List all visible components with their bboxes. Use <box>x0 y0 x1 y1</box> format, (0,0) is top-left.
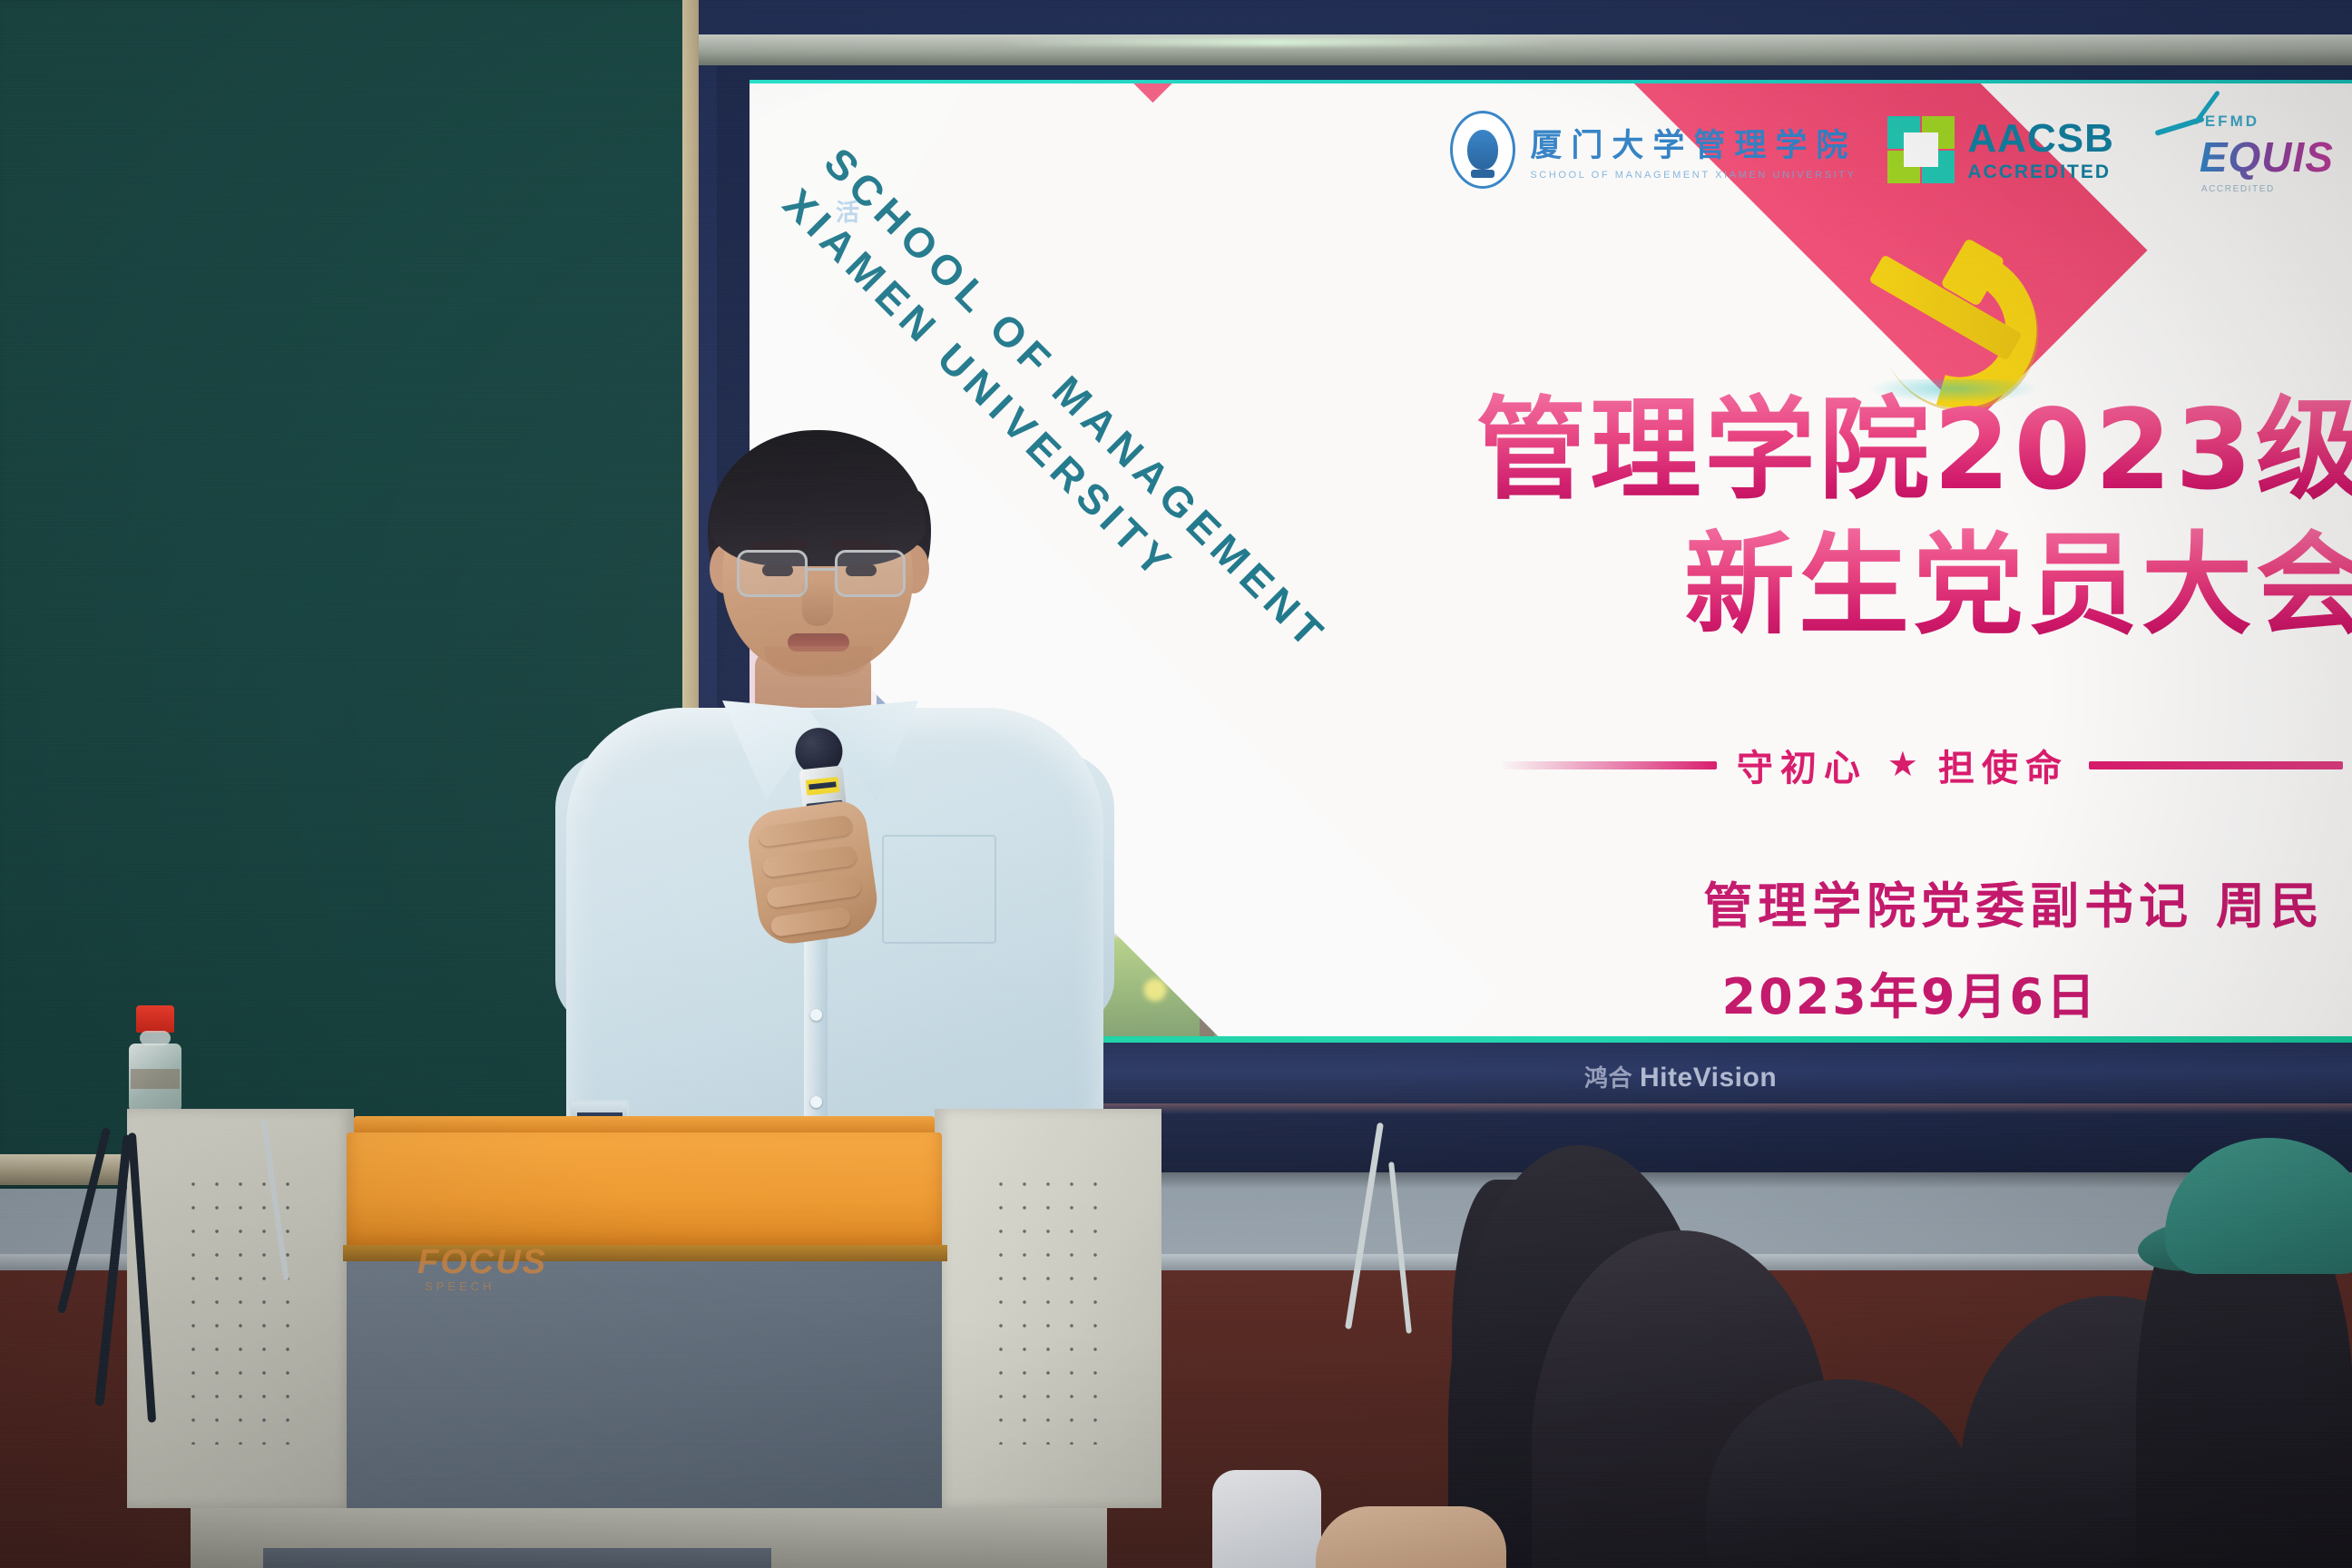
xiamen-university-logo: 厦门大学管理学院 SCHOOL OF MANAGEMENT XIAMEN UNI… <box>1450 111 1857 189</box>
divider-rule-left <box>1499 761 1717 769</box>
slide-watermark: 活 <box>836 194 857 228</box>
aacsb-mark-icon <box>1887 116 1955 183</box>
aacsb-logo: AACSB ACCREDITED <box>1887 116 2113 183</box>
motto-left: 守初心 <box>1737 739 1867 791</box>
motto-divider: 守初心 ★ 担使命 <box>1499 739 2343 791</box>
display-brand-en: HiteVision <box>1640 1063 1777 1093</box>
aacsb-sub: ACCREDITED <box>1967 162 2113 181</box>
lectern-desk <box>347 1132 942 1250</box>
xmu-name: 厦门大学管理学院 SCHOOL OF MANAGEMENT XIAMEN UNI… <box>1530 120 1857 181</box>
speaker-grille-left <box>181 1172 299 1445</box>
xmu-seal-icon <box>1450 111 1515 189</box>
lectern-front <box>347 1261 942 1508</box>
title-line-2: 新生党员大会 <box>1475 518 2352 653</box>
photograph: SCHOOL OF MANAGEMENT XIAMEN UNIVERSITY 活… <box>0 0 2352 1568</box>
xmu-name-en: SCHOOL OF MANAGEMENT XIAMEN UNIVERSITY <box>1530 170 1857 181</box>
lectern: FOCUS SPEECH <box>136 1096 1316 1568</box>
shirt-pocket <box>882 835 996 944</box>
slide-speaker: 管理学院党委副书记 周民 <box>1703 866 2325 937</box>
logo-strip: 厦门大学管理学院 SCHOOL OF MANAGEMENT XIAMEN UNI… <box>1450 105 2334 194</box>
equis-word: EQUIS <box>2200 132 2334 181</box>
speaker-person <box>544 408 1125 1161</box>
shirt-button <box>810 1009 822 1021</box>
speaker-grille-right <box>989 1172 1107 1445</box>
motto-right: 担使命 <box>1938 739 2069 791</box>
xmu-name-cn: 厦门大学管理学院 <box>1530 120 1857 166</box>
bottle-cap <box>136 1005 174 1033</box>
lectern-top-edge <box>354 1116 935 1134</box>
glasses-bridge <box>808 568 835 571</box>
egret-icon <box>1467 130 1498 170</box>
lectern-brand-sub: SPEECH <box>425 1279 495 1293</box>
lectern-brand: FOCUS <box>417 1243 547 1282</box>
lectern-panel-right <box>935 1109 1161 1508</box>
title-line-1: 管理学院2023级 <box>1475 383 2352 518</box>
divider-rule-right <box>2089 761 2343 769</box>
chin <box>764 646 873 677</box>
display-brand-cn: 鸿合 <box>1584 1064 1632 1092</box>
lens-left <box>737 550 808 597</box>
lectern-plinth <box>263 1548 771 1568</box>
slide-date: 2023年9月6日 <box>1722 956 2098 1028</box>
display-top-rail <box>699 34 2352 65</box>
nose <box>802 581 833 626</box>
aacsb-word: AACSB <box>1967 119 2113 159</box>
hand-holding-microphone <box>744 799 881 948</box>
lectern-panel-left <box>127 1109 354 1508</box>
lens-right <box>835 550 906 597</box>
audience-shoulder <box>1316 1506 1506 1568</box>
efmd-swoosh-icon <box>2154 105 2241 136</box>
star-icon: ★ <box>1887 748 1918 782</box>
audience-paper <box>1212 1470 1321 1568</box>
slide-title: 管理学院2023级 新生党员大会 <box>1475 383 2352 653</box>
equis-sub: ACCREDITED <box>2201 184 2275 194</box>
display-brand: 鸿合HiteVision <box>1584 1060 1777 1093</box>
aacsb-text: AACSB ACCREDITED <box>1967 119 2113 181</box>
bottle-label <box>131 1069 180 1089</box>
hair <box>710 430 926 566</box>
equis-logo: EFMD EQUIS ACCREDITED <box>2145 105 2334 194</box>
